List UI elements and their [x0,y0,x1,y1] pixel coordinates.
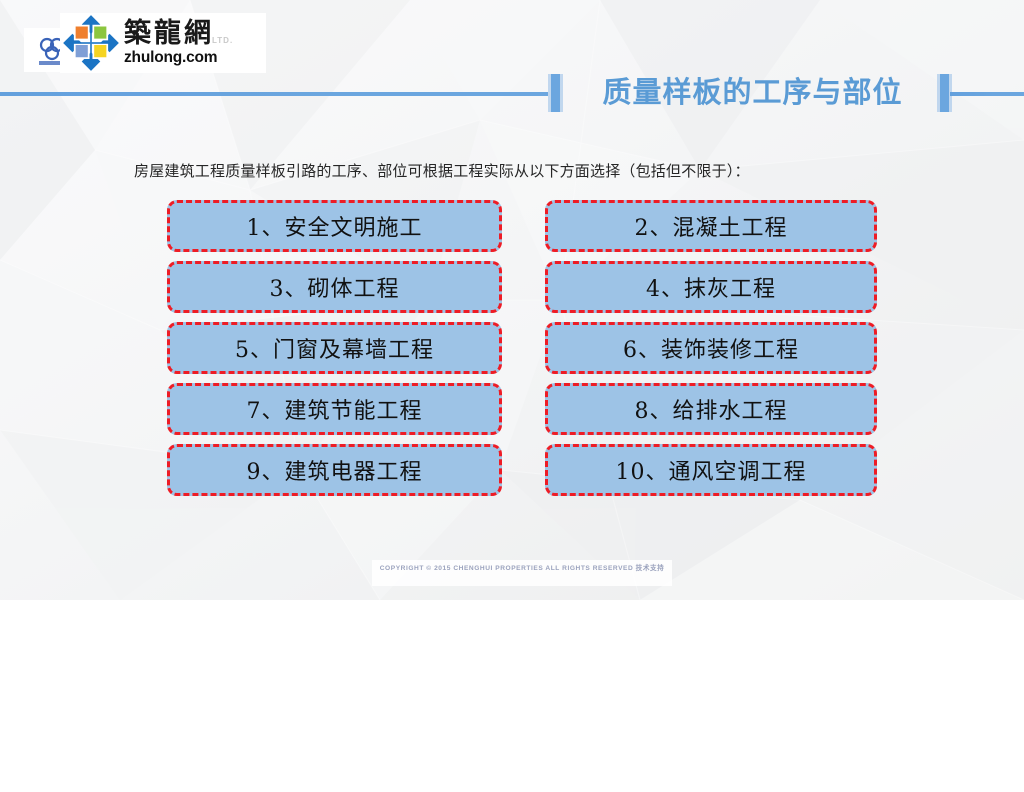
item-box[interactable]: 1、安全文明施工 [167,200,502,252]
item-label: 9、建筑电器工程 [247,454,423,486]
item-box[interactable]: 9、建筑电器工程 [167,444,502,496]
item-label: 2、混凝土工程 [635,210,788,242]
item-box[interactable]: 7、建筑节能工程 [167,383,502,435]
subtitle-text: 房屋建筑工程质量样板引路的工序、部位可根据工程实际从以下方面选择（包括但不限于）… [134,160,750,181]
item-label: 7、建筑节能工程 [247,393,423,425]
item-box[interactable]: 6、装饰装修工程 [545,322,877,374]
item-label: 4、抹灰工程 [646,271,776,303]
zhulong-chinese-name: 築龍網 [124,20,217,47]
zhulong-wordmark: 築龍網 zhulong.com [124,20,217,66]
zhulong-logo[interactable]: 築龍網 zhulong.com [60,13,266,73]
item-box[interactable]: 5、门窗及幕墙工程 [167,322,502,374]
item-box[interactable]: 2、混凝土工程 [545,200,877,252]
item-box[interactable]: 10、通风空调工程 [545,444,877,496]
zhulong-flower-logo-icon [62,14,120,72]
copyright-text: COPYRIGHT © 2015 CHENGHUI PROPERTIES ALL… [372,562,672,572]
item-label: 10、通风空调工程 [616,454,807,486]
item-label: 8、给排水工程 [635,393,788,425]
logo-ltd-text: LTD. [212,36,233,45]
item-box[interactable]: 8、给排水工程 [545,383,877,435]
header-rule-left [0,92,548,96]
page-blank-area [0,600,1024,792]
item-label: 5、门窗及幕墙工程 [235,332,434,364]
page-title: 质量样板的工序与部位 [575,72,930,114]
zhulong-domain: zhulong.com [124,50,217,66]
header-bar-right [940,74,949,112]
header-bar-left [551,74,560,112]
footer-plate: COPYRIGHT © 2015 CHENGHUI PROPERTIES ALL… [372,560,672,586]
item-label: 1、安全文明施工 [247,210,423,242]
slide-header: 築龍網 zhulong.com LTD. 质量样板的工序与部位 [0,0,1024,120]
process-items-grid: 1、安全文明施工 2、混凝土工程 3、砌体工程 4、抹灰工程 5、门窗及幕墙工程… [167,200,877,505]
item-box[interactable]: 4、抹灰工程 [545,261,877,313]
item-label: 3、砌体工程 [270,271,400,303]
item-box[interactable]: 3、砌体工程 [167,261,502,313]
header-rule-right [950,92,1024,96]
slide-canvas: 築龍網 zhulong.com LTD. 质量样板的工序与部位 房屋建筑工程质量… [0,0,1024,600]
item-label: 6、装饰装修工程 [623,332,799,364]
